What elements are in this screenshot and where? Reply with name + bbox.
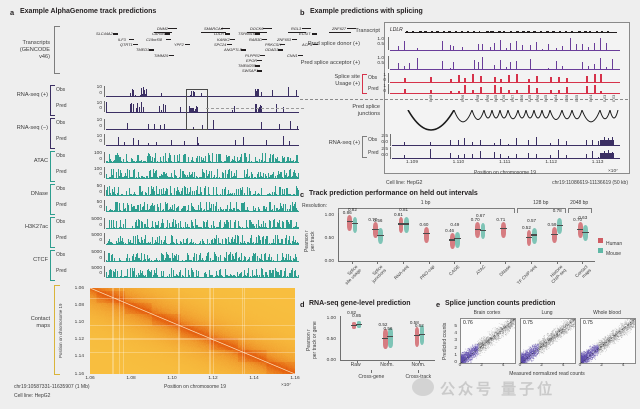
panel-d-violin-mouse[interactable] [420, 325, 424, 345]
signal-bar [200, 241, 201, 244]
signal-bar [242, 235, 243, 244]
signal-bar [209, 176, 210, 178]
panel-d-xtick: Norm. [373, 362, 401, 368]
contact-ytick: 1.10 [64, 320, 84, 325]
panel-d-violin-human[interactable] [383, 329, 387, 349]
signal-bar [287, 276, 288, 277]
signal-bar [175, 175, 176, 178]
signal-bar [274, 261, 275, 262]
signal-bar [126, 276, 127, 277]
signal-bar [282, 239, 283, 244]
signal-bar [204, 210, 205, 211]
usage-bar [430, 77, 432, 83]
signal-bar [237, 145, 238, 146]
signal-bar [285, 175, 286, 179]
signal-bar [294, 204, 295, 212]
splice-row-ymid: 0.5 [362, 42, 384, 47]
signal-bar [125, 162, 126, 163]
signal-bar [205, 186, 206, 196]
signal-bar [155, 273, 156, 277]
signal-bar [147, 243, 148, 244]
signal-bar [163, 228, 164, 229]
signal-bar [162, 254, 163, 262]
signal-bar [244, 210, 245, 212]
signal-bar [115, 206, 116, 212]
resolution-groups: 1 bp128 bp2048 bp [338, 200, 630, 214]
signal-bar [286, 112, 287, 113]
gene-label: DOCK6 [250, 26, 263, 31]
track-subrow-label: Pred [56, 136, 67, 142]
rna-bar [586, 140, 587, 146]
signal-bar [112, 210, 113, 212]
signal-bar [211, 225, 212, 229]
signal-bar [298, 190, 299, 196]
splice-bar [510, 62, 511, 70]
signal-bar [118, 155, 119, 163]
signal-bar [165, 258, 166, 262]
violin-median [352, 223, 358, 224]
signal-bar [252, 145, 253, 146]
signal-bar [219, 276, 220, 278]
signal-bar [111, 129, 112, 130]
panel-d-ytick: 0.00 [316, 358, 336, 363]
signal-bar [225, 209, 226, 211]
violin-mouse[interactable] [455, 232, 460, 248]
signal-bar [227, 222, 228, 229]
signal-bar [143, 177, 144, 178]
splice-bar [482, 57, 483, 70]
signal-bar [207, 228, 208, 229]
signal-bar [184, 206, 185, 211]
contact-maps-label: Contact maps [2, 316, 50, 330]
signal-bar [137, 211, 138, 212]
contact-ytick: 1.14 [64, 354, 84, 359]
gene-row: SWSAP1 [62, 68, 298, 73]
signal-bar [108, 112, 109, 113]
signal-bar [221, 162, 222, 164]
violin-median [423, 233, 429, 234]
track-bracket [50, 250, 55, 281]
signal-bar [201, 260, 202, 262]
gene-exon-glyph [168, 28, 177, 29]
splice-bar [556, 48, 557, 51]
gene-exon-glyph [129, 39, 134, 40]
violin-mouse[interactable] [404, 217, 409, 233]
signal-bar [279, 129, 280, 130]
signal-bar [247, 195, 248, 196]
signal-bar [213, 243, 214, 245]
signal-bar [160, 203, 161, 211]
signal-bar [179, 177, 180, 179]
signal-bar [187, 253, 188, 262]
signal-bar [153, 195, 154, 196]
panel-c-plot-area[interactable]: 0.860.700.810.600.460.700.710.520.590.70… [338, 213, 595, 262]
signal-bar [145, 235, 146, 244]
panel-e-scatter-whole-blood[interactable]: 0.75 [580, 318, 636, 364]
signal-bar [215, 241, 216, 245]
signal-bar [231, 239, 232, 244]
signal-bar [142, 271, 143, 277]
panel-e-ytick: 3 [448, 338, 457, 343]
signal-bar [297, 162, 298, 163]
panel-b-coords: chr19:11086619-11136619 (50 kb) [488, 180, 628, 186]
signal-bar [109, 228, 110, 229]
signal-bar [212, 112, 213, 113]
signal-bar [258, 129, 259, 130]
gene-exon-glyph [257, 60, 262, 61]
signal-bar [173, 275, 174, 278]
track-ymax: 5000 [74, 266, 102, 271]
signal-bar [241, 190, 242, 196]
rna-bar [516, 138, 517, 146]
signal-bar [123, 209, 124, 211]
violin-mouse[interactable] [481, 223, 486, 239]
track-group-label-rnaseq: RNA-seq (+) [2, 92, 48, 98]
signal-bar [271, 130, 272, 131]
signal-bar [199, 227, 200, 229]
signal-bar [255, 178, 256, 179]
track-bracket [50, 151, 55, 182]
signal-bar [261, 160, 262, 163]
usage-bar [528, 79, 530, 83]
signal-bar [234, 176, 235, 178]
panel-a-letter: a [10, 8, 14, 17]
junction-arc [550, 110, 562, 120]
signal-bar [292, 228, 293, 229]
rna-bar [404, 155, 405, 159]
track-ymax: 50 [74, 200, 102, 205]
signal-bar [294, 194, 295, 196]
signal-bar [229, 228, 230, 229]
signal-bar [191, 260, 192, 262]
track-subrow-label: Obs [56, 153, 65, 159]
signal-bar [166, 129, 167, 130]
signal-bar [196, 254, 197, 262]
violin-human[interactable] [399, 217, 404, 233]
splice-bar [516, 61, 517, 70]
signal-bar [258, 207, 259, 211]
signal-bar [158, 221, 159, 229]
track-signal-pred [106, 134, 299, 146]
violin-human[interactable] [552, 227, 557, 243]
signal-bar [211, 227, 212, 229]
splice-bar [612, 59, 613, 70]
signal-bar [177, 210, 178, 212]
track-signal-obs [106, 185, 299, 197]
panel-d-median [414, 335, 420, 336]
region-selection-box[interactable] [186, 89, 208, 130]
signal-bar [277, 243, 278, 244]
violin-mouse[interactable] [557, 218, 562, 234]
signal-bar [283, 158, 284, 163]
junction-arc [534, 110, 542, 118]
signal-bar [139, 211, 140, 212]
signal-bar [212, 153, 213, 163]
panel-e-xlabel: Measured normalized read counts [452, 371, 640, 377]
signal-bar [266, 260, 267, 262]
track-ymin: 0 [74, 190, 102, 195]
rna-bar [494, 143, 495, 147]
signal-bar [234, 208, 235, 211]
signal-bar [273, 174, 274, 178]
gene-label: DNM2 [157, 26, 168, 31]
track-signal-obs [106, 218, 299, 230]
panel-a-title: Example AlphaGenome track predictions [20, 8, 156, 15]
signal-bar [275, 130, 276, 131]
signal-bar [261, 268, 262, 278]
signal-bar [222, 129, 223, 130]
signal-bar [236, 252, 237, 262]
violin-mouse[interactable] [353, 217, 358, 233]
signal-bar [107, 243, 108, 244]
signal-bar [143, 206, 144, 211]
signal-bar [290, 194, 291, 196]
gene-exon-glyph [133, 44, 138, 45]
signal-bar [296, 112, 297, 113]
gene-label: ANGPTL8 [224, 47, 242, 52]
resolution-group-label: 2048 bp [568, 200, 590, 206]
signal-bar [216, 161, 217, 163]
signal-bar [138, 172, 139, 178]
signal-bar [108, 260, 109, 262]
violin-value-label: 0.67 [476, 213, 485, 218]
signal-bar [128, 239, 129, 244]
signal-bar [149, 154, 150, 163]
track-signal-pred [106, 167, 299, 179]
signal-bar [269, 226, 270, 229]
panel-d-violin-mouse[interactable] [388, 328, 392, 348]
panel-d-group-tick [418, 370, 419, 373]
signal-bar [271, 261, 272, 262]
signal-bar [116, 221, 117, 229]
signal-bar [134, 228, 135, 229]
splice-bar [500, 40, 501, 51]
contact-ytick: 1.06 [64, 286, 84, 291]
violin-human[interactable] [527, 230, 532, 246]
signal-bar [227, 96, 228, 97]
signal-bar [117, 204, 118, 212]
signal-bar [119, 242, 120, 244]
signal-bar [248, 129, 249, 130]
violin-median [531, 234, 537, 235]
panel-b-xaxis-ticks: 1.1091.1101.1111.1121.113 [390, 160, 622, 168]
signal-bar [228, 243, 229, 244]
signal-bar [225, 188, 226, 196]
signal-bar [139, 195, 140, 196]
violin-human[interactable] [578, 222, 583, 238]
violin-human[interactable] [450, 233, 455, 249]
rna-signal-obs [392, 134, 620, 146]
gene-label: SLC44A2 [96, 31, 113, 36]
signal-bar [116, 172, 117, 178]
violin-value-label: 0.81 [394, 212, 403, 217]
usage-bar [464, 78, 466, 83]
gene-label: CNN1 [287, 53, 298, 58]
splice-bar [453, 46, 454, 51]
signal-bar [166, 227, 167, 229]
panel-c-title: Track prediction performance on held out… [309, 190, 478, 197]
panel-e-correlation: 0.75 [523, 320, 533, 326]
signal-bar [244, 145, 245, 146]
signal-bar [266, 272, 267, 277]
splice-bar [606, 67, 607, 70]
splice-bar [500, 60, 501, 71]
signal-bar [279, 209, 280, 211]
signal-bar [120, 96, 121, 97]
signal-bar [240, 273, 241, 277]
usage-bar [566, 78, 568, 83]
signal-bar [144, 177, 145, 179]
signal-bar [184, 228, 185, 229]
signal-bar [165, 195, 166, 196]
usage-bar [600, 74, 602, 83]
signal-bar [210, 96, 211, 97]
panel-e-scatter-lung[interactable]: 0.75 [520, 318, 576, 364]
signal-bar [224, 260, 225, 262]
signal-bar [169, 274, 170, 278]
signal-bar [136, 161, 137, 163]
signal-bar [159, 238, 160, 245]
legend-item-mouse[interactable]: Mouse [598, 242, 621, 260]
violin-mouse[interactable] [583, 225, 588, 241]
rna-bar [566, 155, 567, 159]
violin-mouse[interactable] [378, 228, 383, 244]
signal-bar [154, 205, 155, 211]
signal-bar [288, 222, 289, 229]
contact-xtick: 1.14 [244, 376, 264, 381]
signal-bar [284, 193, 285, 196]
signal-bar [144, 239, 145, 245]
splice-bar [582, 44, 583, 51]
signal-bar [219, 96, 220, 97]
legend-label: Mouse [606, 251, 621, 257]
track-ymin: 0 [74, 139, 102, 144]
rna-bar [558, 150, 559, 159]
signal-bar [213, 145, 214, 146]
signal-bar [139, 275, 140, 277]
violin-value-label: 0.57 [527, 218, 536, 223]
signal-bar [282, 189, 283, 196]
signal-bar [243, 228, 244, 229]
signal-bar [216, 235, 217, 245]
usage-bar [494, 77, 496, 83]
gene-label: PRKCSH [265, 42, 281, 47]
signal-bar [294, 129, 295, 130]
transcript-exon-track [405, 29, 617, 35]
signal-bar [109, 239, 110, 245]
violin-mouse[interactable] [532, 228, 537, 244]
gene-label: SWSAP1 [242, 68, 258, 73]
panel-d-value-label: 0.85 [352, 313, 361, 318]
signal-bar [122, 195, 123, 196]
signal-bar [166, 207, 167, 212]
panel-e-scatter-brain-cortex[interactable]: 0.76 [460, 318, 516, 364]
signal-bar [239, 210, 240, 211]
track-ymin: 0 [74, 238, 102, 243]
signal-bar [193, 272, 194, 277]
signal-bar [139, 260, 140, 262]
signal-bar [119, 176, 120, 178]
signal-bar [133, 259, 134, 262]
contact-xtick: 1.16 [285, 376, 305, 381]
violin-human[interactable] [501, 222, 506, 238]
track-bracket [50, 118, 55, 149]
signal-bar [189, 195, 190, 196]
signal-bar [201, 209, 202, 211]
signal-bar [288, 195, 289, 196]
track-bracket [50, 85, 55, 116]
signal-bar [180, 195, 181, 196]
signal-bar [108, 241, 109, 244]
usage-bar [558, 77, 560, 83]
signal-bar [296, 155, 297, 163]
signal-bar [233, 256, 234, 262]
signal-bar [197, 156, 198, 163]
gene-label: C19orf38 [146, 37, 162, 42]
signal-bar [141, 177, 142, 179]
signal-bar [257, 256, 258, 262]
signal-bar [131, 261, 132, 262]
signal-bar [277, 254, 278, 262]
signal-bar [218, 227, 219, 229]
panel-d-xtick: Raw [342, 362, 370, 368]
splice-bar [570, 38, 571, 51]
junction-value: 0.06 [536, 88, 540, 102]
panel-a-coords: chr19:10587331-11635907 (1 Mb) [14, 384, 90, 390]
track-signal-pred [106, 233, 299, 245]
splice-bar [494, 43, 495, 51]
contact-map-heatmap[interactable] [90, 288, 295, 374]
signal-bar [149, 171, 150, 179]
panel-e-xtick: 4 [617, 363, 629, 368]
track-ymin: 0 [74, 91, 102, 96]
junction-arc [582, 110, 600, 122]
selection-link-line [206, 108, 304, 109]
signal-bar [133, 104, 134, 113]
signal-bar [240, 228, 241, 229]
signal-bar [233, 112, 234, 113]
signal-bar [197, 276, 198, 278]
signal-bar [132, 228, 133, 229]
rna-bar [592, 140, 593, 146]
signal-bar [259, 159, 260, 163]
signal-bar [131, 210, 132, 211]
signal-bar [256, 270, 257, 277]
signal-bar [161, 271, 162, 277]
signal-bar [183, 155, 184, 163]
signal-bar [146, 227, 147, 229]
splice-bar [562, 66, 563, 70]
signal-bar [205, 145, 206, 146]
signal-bar [222, 96, 223, 97]
resolution-group-label: 1 bp [338, 200, 513, 206]
signal-bar [135, 194, 136, 196]
violin-human[interactable] [424, 227, 429, 243]
signal-bar [242, 210, 243, 212]
splice-bar [506, 48, 507, 51]
junction-arc [600, 110, 610, 119]
track-ymin: 0 [74, 172, 102, 177]
gene-exon-glyph [113, 33, 118, 34]
signal-bar [130, 177, 131, 179]
panel-d-violin-human[interactable] [415, 327, 419, 347]
splice-bar [606, 43, 607, 51]
signal-bar [151, 112, 152, 113]
signal-bar [205, 276, 206, 278]
signal-bar [255, 157, 256, 163]
panel-d-plot-area[interactable]: 0.820.520.580.850.560.62 [340, 316, 435, 361]
signal-bar [132, 243, 133, 245]
